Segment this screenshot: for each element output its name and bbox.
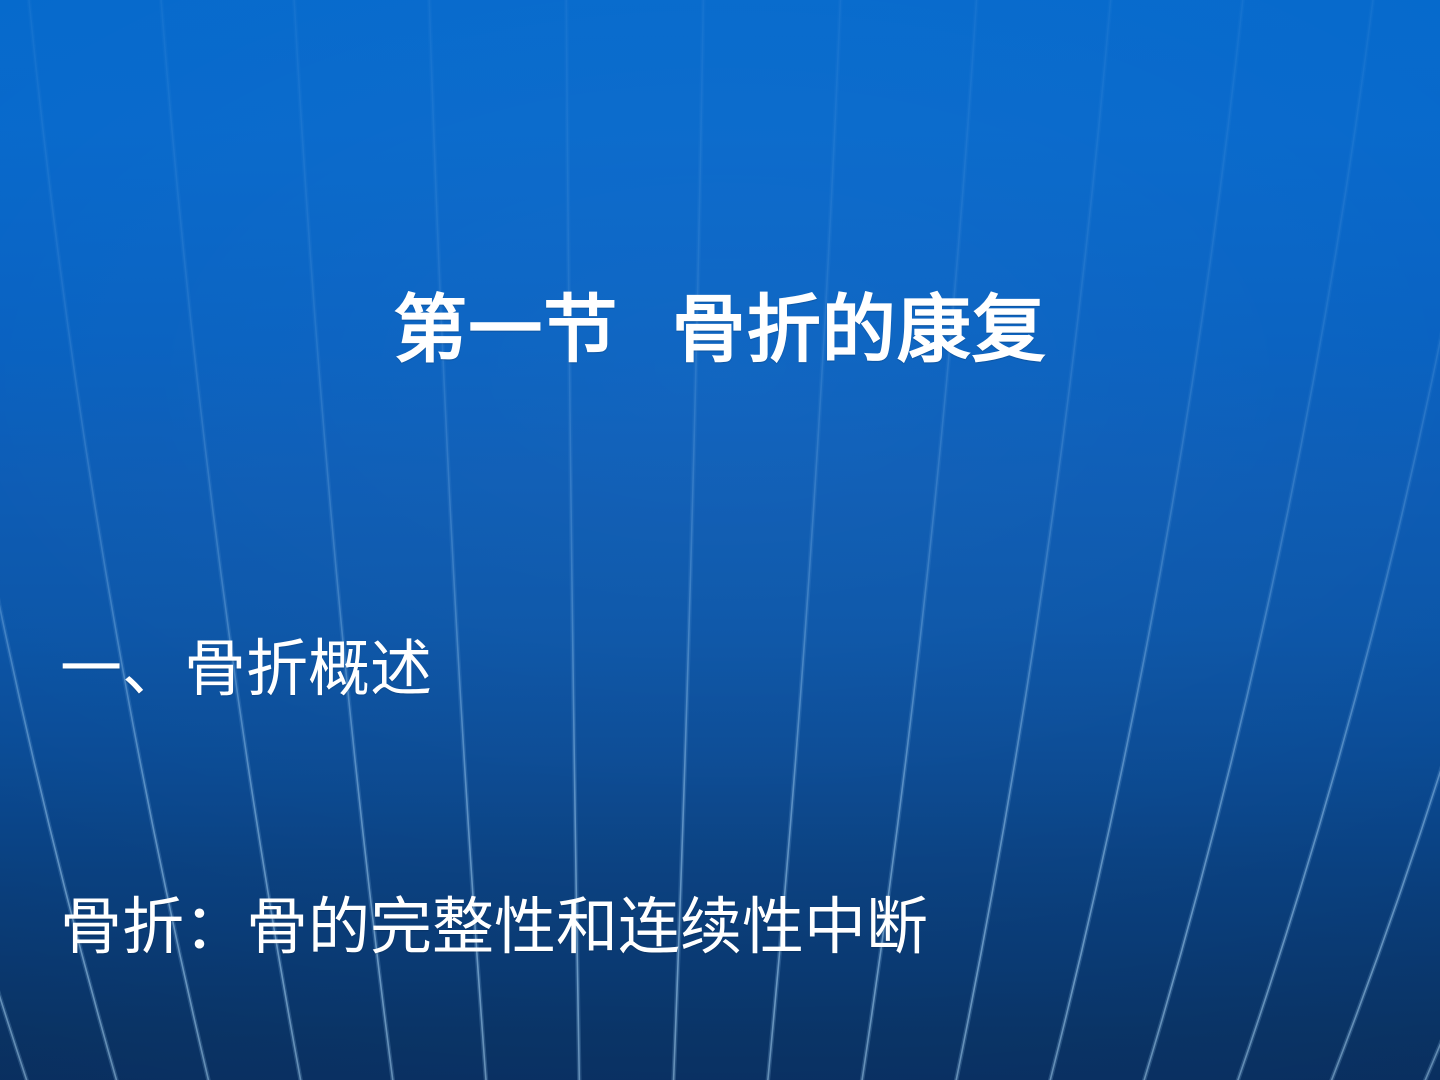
- slide-body: 一、骨折概述 骨折：骨的完整性和连续性中断: [60, 455, 928, 1080]
- body-line-2: 骨折：骨的完整性和连续性中断: [60, 885, 928, 971]
- slide-title: 第一节 骨折的康复: [0, 293, 1440, 368]
- presentation-slide: 第一节 骨折的康复 一、骨折概述 骨折：骨的完整性和连续性中断: [0, 0, 1440, 1080]
- body-line-1: 一、骨折概述: [60, 627, 928, 713]
- slide-content: 第一节 骨折的康复 一、骨折概述 骨折：骨的完整性和连续性中断: [0, 0, 1440, 1080]
